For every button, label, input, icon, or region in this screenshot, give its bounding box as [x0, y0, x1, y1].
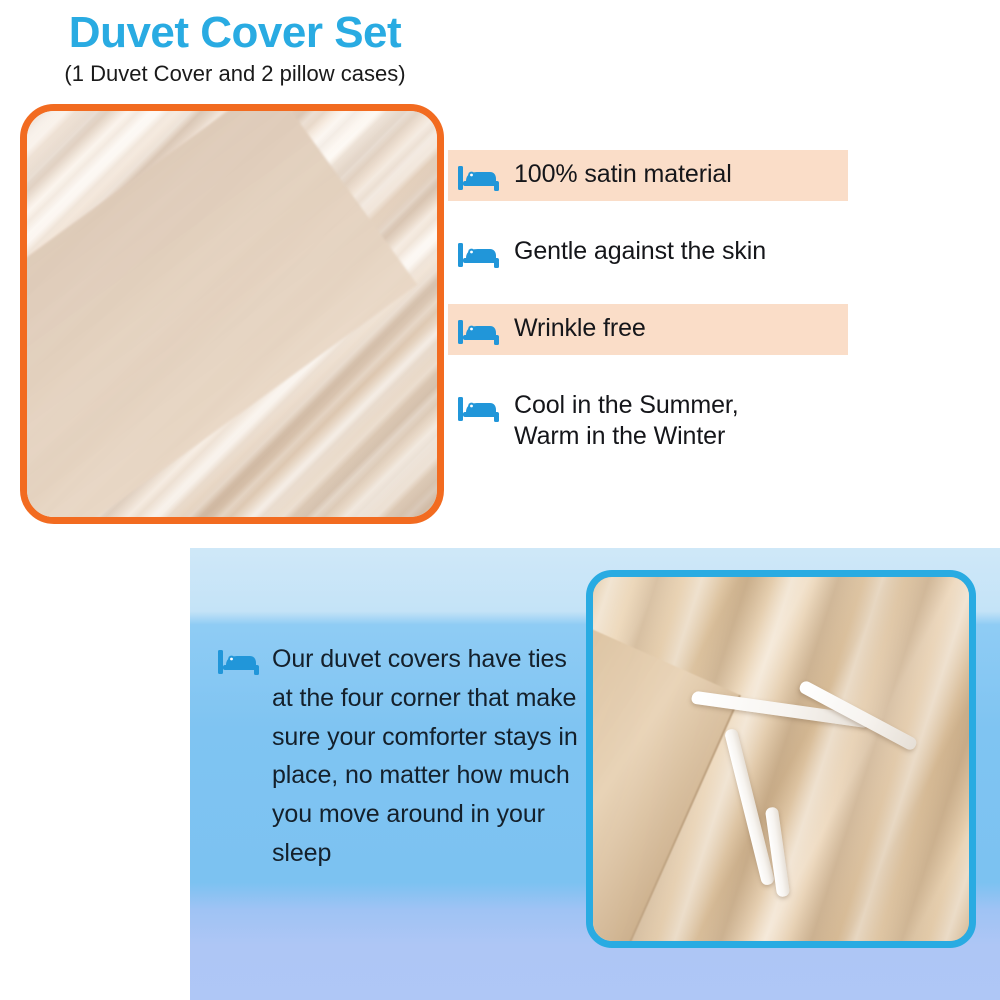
feature-item-wrinkle-free: Wrinkle free: [448, 304, 848, 355]
duvet-ties-photo: [586, 570, 976, 948]
bed-icon: [218, 646, 260, 676]
feature-item-satin-material: 100% satin material: [448, 150, 848, 201]
satin-fabric-photo: [20, 104, 444, 524]
feature-label: Gentle against the skin: [514, 236, 766, 267]
feature-label: 100% satin material: [514, 159, 732, 190]
header: Duvet Cover Set (1 Duvet Cover and 2 pil…: [0, 10, 470, 86]
tie-feature-text-block: Our duvet covers have ties at the four c…: [218, 640, 578, 873]
feature-label: Cool in the Summer, Warm in the Winter: [514, 390, 739, 451]
bed-icon: [458, 162, 500, 192]
tie-feature-paragraph: Our duvet covers have ties at the four c…: [272, 640, 578, 873]
page-subtitle: (1 Duvet Cover and 2 pillow cases): [0, 62, 470, 86]
bed-icon: [458, 316, 500, 346]
feature-item-temperature: Cool in the Summer, Warm in the Winter: [448, 381, 848, 460]
bed-icon: [458, 239, 500, 269]
bed-icon: [458, 393, 500, 423]
page-title: Duvet Cover Set: [0, 10, 470, 56]
feature-list: 100% satin material Gentle against the s…: [448, 150, 848, 460]
feature-label: Wrinkle free: [514, 313, 646, 344]
feature-item-gentle-skin: Gentle against the skin: [448, 227, 848, 278]
